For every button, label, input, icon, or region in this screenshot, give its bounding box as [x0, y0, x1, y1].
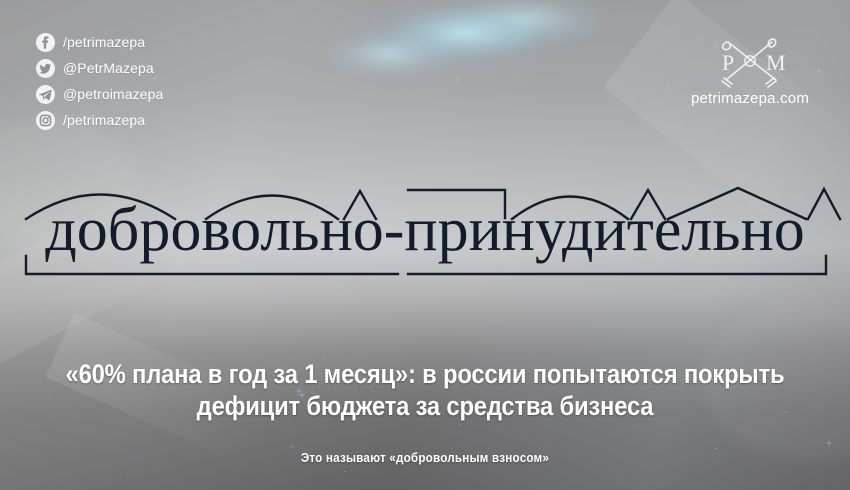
- headline-line-1: «60% плана в год за 1 месяц»: в россии п…: [51, 358, 799, 390]
- star-sparkle: [340, 53, 341, 54]
- wordart-morpheme-diagram: добровольно-принудительно: [0, 168, 850, 293]
- star-sparkle: [344, 471, 345, 472]
- twitter-icon: [36, 59, 55, 78]
- facebook-icon: [36, 33, 55, 52]
- star-sparkle: [457, 447, 458, 448]
- wordart-text: добровольно-принудительно: [45, 196, 805, 264]
- social-item-instagram[interactable]: /petrimazepa: [36, 108, 163, 132]
- subtitle-line: Это называют «добровольным взносом»: [43, 450, 808, 466]
- star-sparkle: [178, 328, 179, 329]
- star-sparkle: [120, 473, 121, 474]
- star-sparkle: [481, 24, 482, 25]
- poster-canvas: /petrimazepa @PetrMazepa @petroimazepa: [0, 0, 850, 490]
- crossed-sabre-mace-icon: P M: [702, 32, 798, 88]
- subtitle: Это называют «добровольным взносом»: [0, 450, 850, 466]
- star-sparkle: [758, 22, 759, 23]
- star-sparkle: [577, 438, 578, 439]
- star-sparkle: [532, 98, 533, 99]
- star-sparkle: [389, 127, 391, 129]
- star-sparkle: [383, 95, 384, 96]
- headline-line-2: дефицит бюджета за средства бизнеса: [51, 390, 799, 422]
- star-sparkle: [540, 108, 541, 109]
- star-sparkle: [456, 79, 458, 81]
- social-handle-telegram: @petroimazepa: [63, 87, 163, 101]
- social-item-facebook[interactable]: /petrimazepa: [36, 30, 163, 54]
- telegram-icon: [36, 85, 55, 104]
- ending-caret: [808, 189, 840, 219]
- logo-site-url: petrimazepa.com: [691, 90, 809, 107]
- social-item-twitter[interactable]: @PetrMazepa: [36, 56, 163, 80]
- star-sparkle: [460, 424, 461, 425]
- star-sparkle: [631, 98, 632, 99]
- star-sparkle: [433, 130, 434, 131]
- social-links: /petrimazepa @PetrMazepa @petroimazepa: [36, 30, 163, 132]
- star-sparkle: [520, 42, 521, 43]
- star-sparkle: [285, 43, 286, 44]
- logo-letter-m: M: [766, 50, 786, 75]
- star-sparkle: [633, 425, 634, 426]
- star-sparkle: [629, 331, 630, 332]
- star-sparkle: [840, 166, 841, 167]
- star-sparkle: [223, 163, 224, 164]
- instagram-icon: [36, 111, 55, 130]
- star-sparkle: [91, 301, 92, 302]
- star-sparkle: [547, 18, 548, 19]
- star-sparkle: [210, 51, 211, 52]
- star-sparkle: [828, 442, 830, 444]
- star-sparkle: [662, 444, 663, 445]
- star-sparkle: [291, 446, 293, 448]
- nebula-cloud: [300, 0, 600, 110]
- star-sparkle: [765, 132, 766, 133]
- social-handle-twitter: @PetrMazepa: [63, 61, 154, 75]
- headline: «60% плана в год за 1 месяц»: в россии п…: [0, 358, 850, 422]
- star-sparkle: [642, 334, 643, 335]
- star-sparkle: [611, 56, 612, 57]
- star-sparkle: [606, 29, 607, 30]
- social-handle-instagram: /petrimazepa: [63, 113, 145, 127]
- star-sparkle: [264, 139, 265, 140]
- star-sparkle: [193, 324, 194, 325]
- star-sparkle: [374, 21, 375, 22]
- site-logo[interactable]: P M petrimazepa.com: [680, 32, 820, 107]
- star-sparkle: [283, 436, 284, 437]
- star-sparkle: [555, 299, 556, 300]
- social-handle-facebook: /petrimazepa: [63, 35, 145, 49]
- star-sparkle: [816, 161, 817, 162]
- social-item-telegram[interactable]: @petroimazepa: [36, 82, 163, 106]
- star-sparkle: [712, 296, 713, 297]
- star-sparkle: [667, 86, 669, 88]
- logo-letter-p: P: [722, 50, 734, 75]
